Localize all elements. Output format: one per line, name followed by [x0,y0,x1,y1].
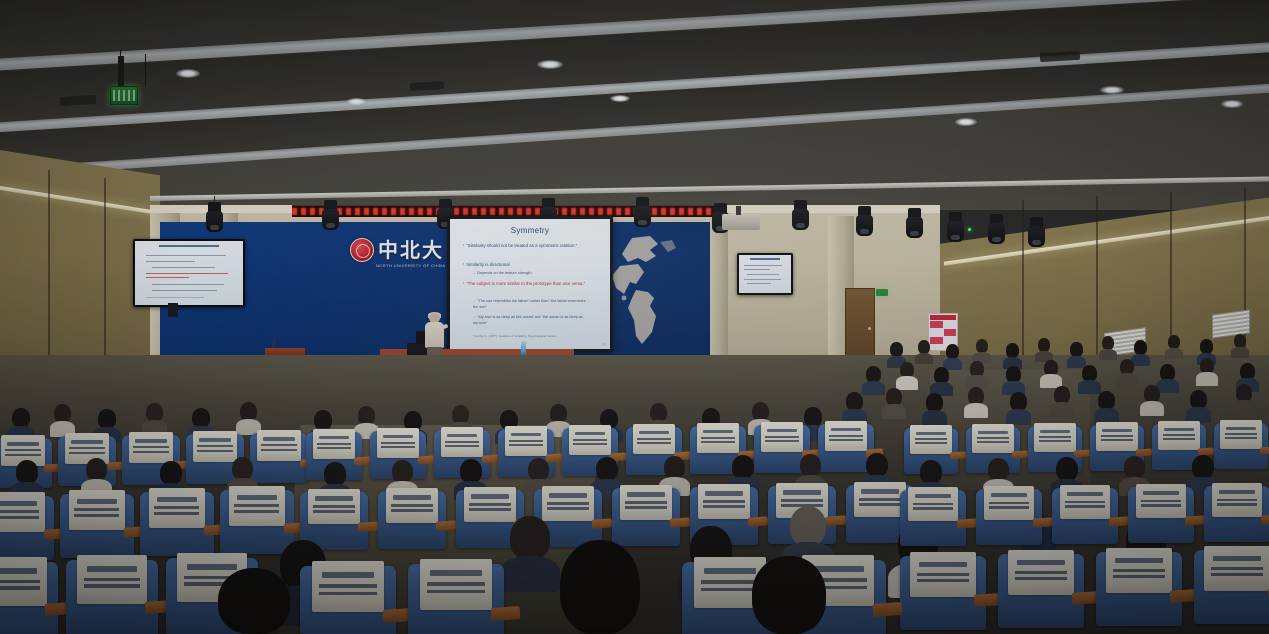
moving-head-light [322,200,339,230]
slide-title: Symmetry [450,226,610,235]
slide-bullet: "Similarity should not be treated as a s… [463,243,591,249]
exit-sign [110,86,138,105]
ceiling-downlight [347,98,366,105]
ceiling-downlight [1221,100,1243,108]
auditorium-seat[interactable] [1194,550,1269,624]
auditorium-seat[interactable] [60,494,134,558]
ceiling-downlight [955,118,977,126]
auditorium-seat[interactable] [66,560,158,634]
world-map-graphic [598,232,710,352]
fixture-status-led [968,228,971,231]
moving-head-light [906,208,923,238]
auditorium-seat[interactable] [300,566,396,634]
auditorium-seat[interactable] [976,489,1042,545]
lecture-hall-photo: 中北大 NORTH UNIVERSITY OF CHINA Symmetry "… [0,0,1269,634]
projector-mount [736,206,741,215]
university-name-sub: NORTH UNIVERSITY OF CHINA [376,263,445,268]
monitor-stand [168,303,178,317]
auditorium-seat[interactable] [140,492,214,556]
slide-bullet: "The son resembles the father" rather th… [473,299,589,310]
ceiling-projector [722,214,760,230]
audience-person-foreground [752,556,826,634]
moving-head-light [634,197,651,227]
auditorium-seat[interactable] [1128,487,1194,543]
confidence-monitor-right [737,253,793,295]
moving-head-light [856,206,873,236]
auditorium-seat[interactable] [408,564,504,634]
university-name-cn: 中北大 [378,240,444,260]
sign-bracket [118,56,124,86]
auditorium-seat[interactable] [1204,486,1269,542]
water-bottle [521,341,526,355]
sign-hanger-wire [145,54,146,86]
auditorium-seat[interactable] [0,562,58,634]
moving-head-light [792,200,809,230]
ceiling-downlight [537,60,563,69]
ceiling [0,0,1269,210]
slide-bullet: Depends on the feature strength [473,271,591,277]
moving-head-light [1028,217,1045,247]
seat-row [900,480,1269,550]
auditorium-seat[interactable] [998,554,1084,628]
moving-head-light [206,202,223,232]
slide-citation: Tversky, A. (1977). Features of similari… [473,334,597,338]
auditorium-seat[interactable] [900,490,966,546]
ceiling-downlight [1100,86,1124,94]
slide-bullet: Similarity is directional [463,262,591,268]
ceiling-downlight [610,95,630,102]
university-seal-icon [350,238,374,262]
auditorium-seat[interactable] [0,496,54,560]
audience-person-foreground [560,540,640,634]
slide-page-number: 12 [603,342,606,346]
seat-row [910,548,1269,634]
confidence-monitor-left [133,239,245,307]
auditorium-seat[interactable] [1052,488,1118,544]
exit-light [876,289,888,296]
audience-person-foreground [218,568,290,634]
projection-screen: Symmetry "Similarity should not be treat… [447,216,613,352]
slide-bullet-emphasis: "The subject is more similar to the prot… [463,281,591,287]
slide-bullet: "My love is as deep as the ocean" not "t… [473,315,589,326]
presenter-person [424,313,444,358]
slide-surface: Symmetry "Similarity should not be treat… [450,219,610,349]
moving-head-light [988,214,1005,244]
moving-head-light [947,212,964,242]
auditorium-seat[interactable] [1096,552,1182,626]
university-logo: 中北大 [350,238,444,262]
ceiling-downlight [176,69,200,78]
